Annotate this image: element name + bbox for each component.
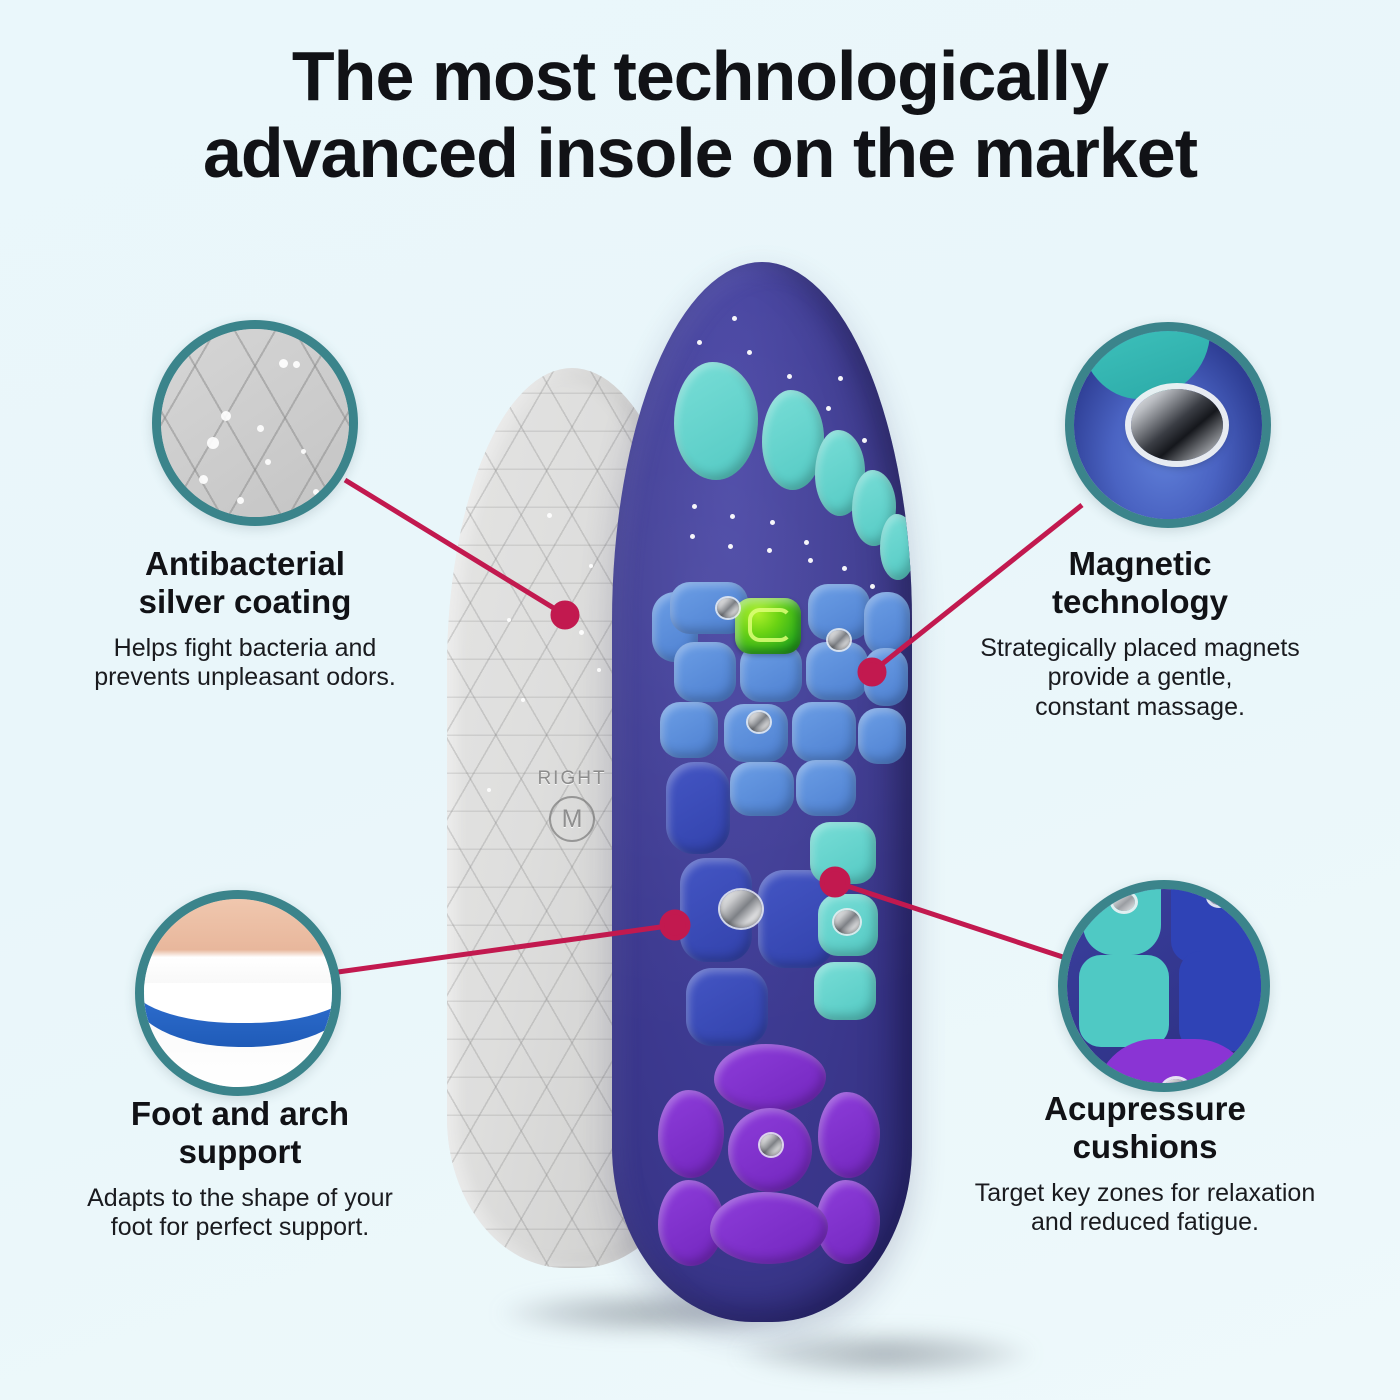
emboss-size-label: M xyxy=(549,796,595,842)
magnet-ball-closeup-icon[interactable] xyxy=(1065,322,1271,528)
arch-profile-closeup-icon[interactable] xyxy=(135,890,341,1096)
green-gel-hex xyxy=(735,598,801,654)
feature-title-acupressure: Acupressure cushions xyxy=(945,1090,1345,1167)
feature-desc-acupressure: Target key zones for relaxation and redu… xyxy=(945,1179,1345,1238)
feature-magnetic-technology: Magnetic technology Strategically placed… xyxy=(940,545,1340,722)
feature-title-silver: Antibacterial silver coating xyxy=(45,545,445,622)
feature-arch-support: Foot and arch support Adapts to the shap… xyxy=(40,1095,440,1243)
teal-pad-fragment xyxy=(1080,325,1210,399)
feature-title-arch: Foot and arch support xyxy=(40,1095,440,1172)
infographic-stage: The most technologically advanced insole… xyxy=(0,0,1400,1400)
feature-desc-arch: Adapts to the shape of your foot for per… xyxy=(40,1184,440,1243)
feature-acupressure-cushions: Acupressure cushions Target key zones fo… xyxy=(945,1090,1345,1238)
silver-coating-closeup-icon[interactable] xyxy=(152,320,358,526)
feature-title-magnet: Magnetic technology xyxy=(940,545,1340,622)
feature-desc-silver: Helps fight bacteria and prevents unplea… xyxy=(45,634,445,693)
feature-silver-coating: Antibacterial silver coating Helps fight… xyxy=(45,545,445,693)
acupressure-pads-closeup-icon[interactable] xyxy=(1058,880,1270,1092)
feature-desc-magnet: Strategically placed magnets provide a g… xyxy=(940,634,1340,723)
blue-acupressure-insole xyxy=(612,262,912,1322)
insole-shadow-right xyxy=(735,1330,1035,1378)
magnet-sphere xyxy=(1131,389,1223,461)
